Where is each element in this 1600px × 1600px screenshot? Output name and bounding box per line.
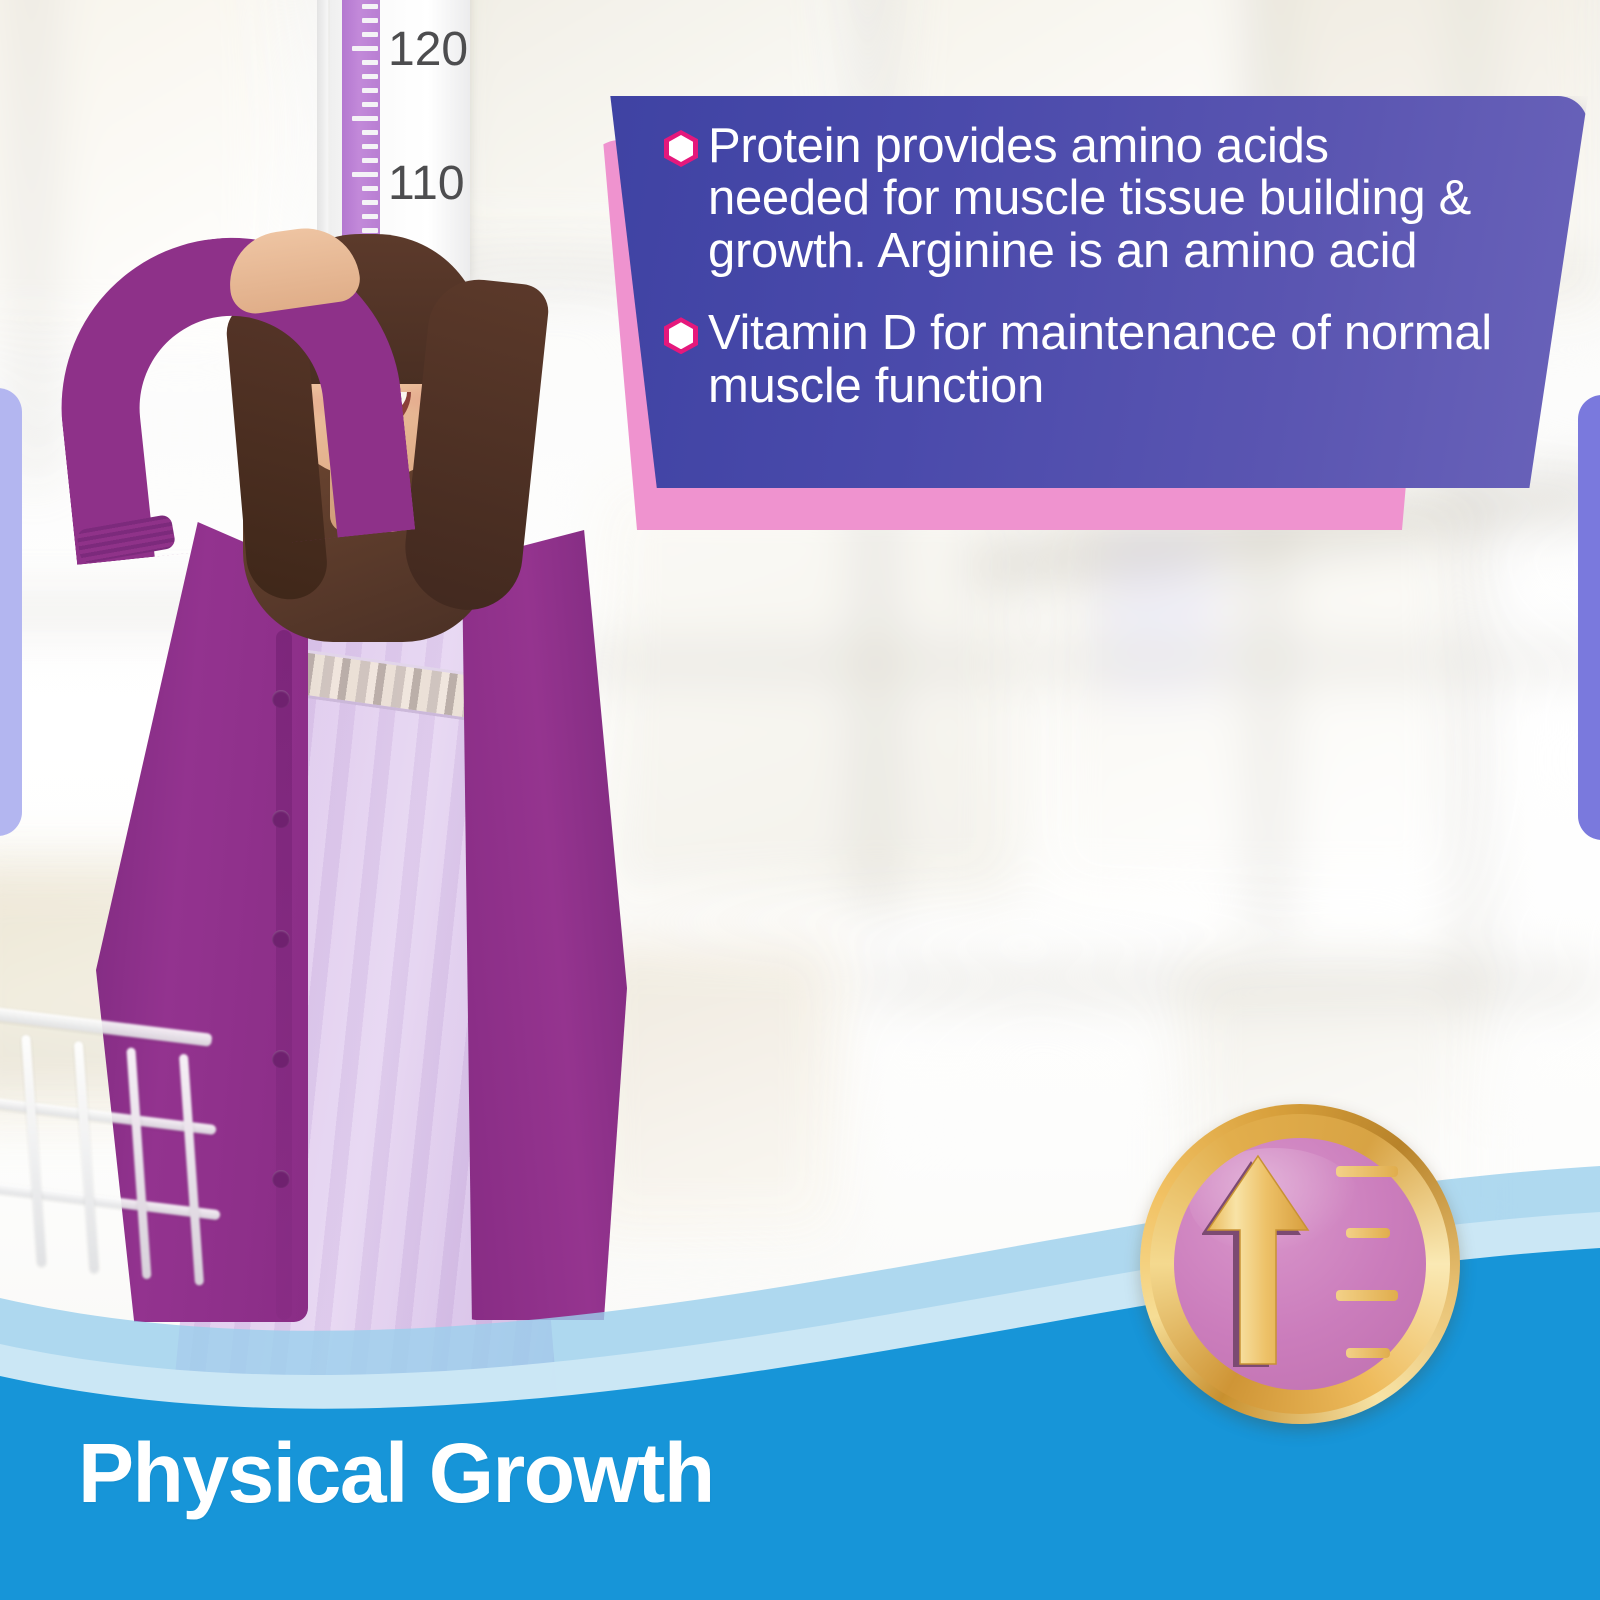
cardigan-button <box>272 1050 290 1068</box>
benefit-item-protein: Protein provides amino acids needed for … <box>664 120 1504 277</box>
upward-arrow-icon <box>1202 1152 1314 1367</box>
badge-tick-1 <box>1336 1166 1398 1187</box>
badge-tick-4 <box>1346 1348 1390 1367</box>
badge-tick-3 <box>1336 1290 1398 1311</box>
benefit-text-vitamin-d: Vitamin D for maintenance of normal musc… <box>708 307 1498 412</box>
benefit-text-protein: Protein provides amino acids needed for … <box>708 120 1483 277</box>
growth-arrow-badge-icon <box>1140 1104 1460 1424</box>
benefits-callout-card: Protein provides amino acids needed for … <box>578 96 1588 504</box>
page-title: Physical Growth <box>78 1425 714 1522</box>
hexagon-bullet-icon <box>664 130 698 167</box>
benefit-item-vitamin-d: Vitamin D for maintenance of normal musc… <box>664 307 1504 412</box>
hexagon-bullet-icon <box>664 317 698 354</box>
benefits-list: Protein provides amino acids needed for … <box>664 120 1504 426</box>
ruler-number-120: 120 <box>388 22 468 77</box>
cardigan-button <box>272 810 290 828</box>
badge-tick-2 <box>1346 1228 1390 1247</box>
cardigan-button <box>272 690 290 708</box>
poster-canvas: 120 110 <box>0 0 1600 1600</box>
left-decor-tab <box>0 388 22 836</box>
cardigan-button <box>272 930 290 948</box>
